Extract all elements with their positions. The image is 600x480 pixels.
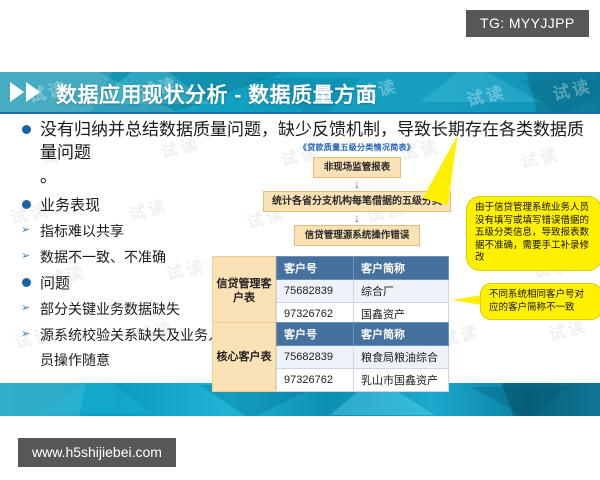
footer-polygon-4 bbox=[470, 387, 570, 416]
bullet-text: 部分关键业务数据缺失 bbox=[40, 297, 180, 322]
list-item: 业务表现 bbox=[16, 193, 226, 218]
site-url-tag: www.h5shijiebei.com bbox=[18, 438, 176, 467]
header-polygon-4 bbox=[520, 80, 600, 114]
cell-customer-name: 乳山市国鑫资产 bbox=[354, 369, 449, 392]
list-item: ➢ 指标难以共享 bbox=[16, 219, 226, 244]
footer-polygon-1 bbox=[40, 383, 150, 413]
table-row: 75682839 粮食局粮油综合 bbox=[277, 346, 449, 369]
list-item: ➢ 数据不一致、不准确 bbox=[16, 245, 226, 270]
cell-customer-name: 粮食局粮油综合 bbox=[354, 346, 449, 369]
chevron-right-icon: ➢ bbox=[21, 329, 32, 340]
flow-caption: 《贷款质量五级分类情况简表》 bbox=[252, 142, 462, 153]
callout-box-2: 不同系统相同客户号对应的客户简称不一致 bbox=[480, 283, 600, 320]
core-customer-table-group: 核心客户表 客户号 客户简称 75682839 粮食局粮油综合 97326762… bbox=[212, 322, 449, 392]
table-label: 信贷管理客户表 bbox=[212, 256, 276, 326]
cell-customer-name: 综合厂 bbox=[354, 280, 449, 303]
tg-watermark-tag: TG: MYYJJPP bbox=[466, 10, 589, 37]
list-item: ➢ 源系统校验关系缺失及业务人员操作随意 bbox=[16, 323, 226, 373]
flow-step-box: 信贷管理源系统操作错误 bbox=[294, 225, 421, 246]
column-header-customer-name: 客户简称 bbox=[354, 323, 449, 346]
credit-customer-table-group: 信贷管理客户表 客户号 客户简称 75682839 综合厂 97326762 国… bbox=[212, 256, 449, 326]
callout-box-1: 由于信贷管理系统业务人员没有填写或填写错误借据的五级分类信息，导致报表数据不准确… bbox=[466, 196, 600, 271]
column-header-customer-name: 客户简称 bbox=[354, 257, 449, 280]
callout-pointer-2 bbox=[452, 295, 482, 305]
cell-customer-id: 75682839 bbox=[277, 280, 354, 303]
data-table: 客户号 客户简称 75682839 粮食局粮油综合 97326762 乳山市国鑫… bbox=[276, 322, 449, 392]
slide-canvas: TG: MYYJJPP 数据应用现状分析 - 数据质量方面 试读 试读 试读 试… bbox=[0, 0, 600, 480]
bullet-dot-icon bbox=[22, 200, 31, 209]
bullet-text: 指标难以共享 bbox=[40, 219, 124, 244]
table-header-row: 客户号 客户简称 bbox=[277, 323, 449, 346]
bullet-text: 。 bbox=[40, 165, 57, 188]
column-header-customer-id: 客户号 bbox=[277, 323, 354, 346]
bullet-text: 数据不一致、不准确 bbox=[40, 245, 166, 270]
table-label: 核心客户表 bbox=[212, 322, 276, 392]
bullet-sublist: 业务表现 ➢ 指标难以共享 ➢ 数据不一致、不准确 问题 ➢ 部分关键业务数据缺… bbox=[16, 193, 226, 373]
bullet-text: 业务表现 bbox=[40, 193, 100, 218]
chevron-right-icon: ➢ bbox=[21, 303, 32, 314]
table-row: 75682839 综合厂 bbox=[277, 280, 449, 303]
list-item: 问题 bbox=[16, 271, 226, 296]
cell-customer-id: 97326762 bbox=[277, 369, 354, 392]
table-row: 97326762 乳山市国鑫资产 bbox=[277, 369, 449, 392]
bullet-text: 源系统校验关系缺失及业务人员操作随意 bbox=[40, 323, 226, 373]
play-forward-icon bbox=[10, 81, 44, 103]
bullet-dot-icon bbox=[22, 125, 31, 134]
column-header-customer-id: 客户号 bbox=[277, 257, 354, 280]
page-title: 数据应用现状分析 - 数据质量方面 bbox=[56, 79, 377, 109]
bullet-dot-icon bbox=[22, 278, 31, 287]
data-table: 客户号 客户简称 75682839 综合厂 97326762 国鑫资产 bbox=[276, 256, 449, 326]
table-header-row: 客户号 客户简称 bbox=[277, 257, 449, 280]
bullet-text: 问题 bbox=[40, 271, 70, 296]
chevron-right-icon: ➢ bbox=[21, 251, 32, 262]
down-arrow-icon: ↓ bbox=[252, 213, 462, 224]
chevron-right-icon: ➢ bbox=[21, 225, 32, 236]
list-item: ➢ 部分关键业务数据缺失 bbox=[16, 297, 226, 322]
cell-customer-id: 75682839 bbox=[277, 346, 354, 369]
flow-step-box: 非现场监管报表 bbox=[313, 157, 402, 178]
